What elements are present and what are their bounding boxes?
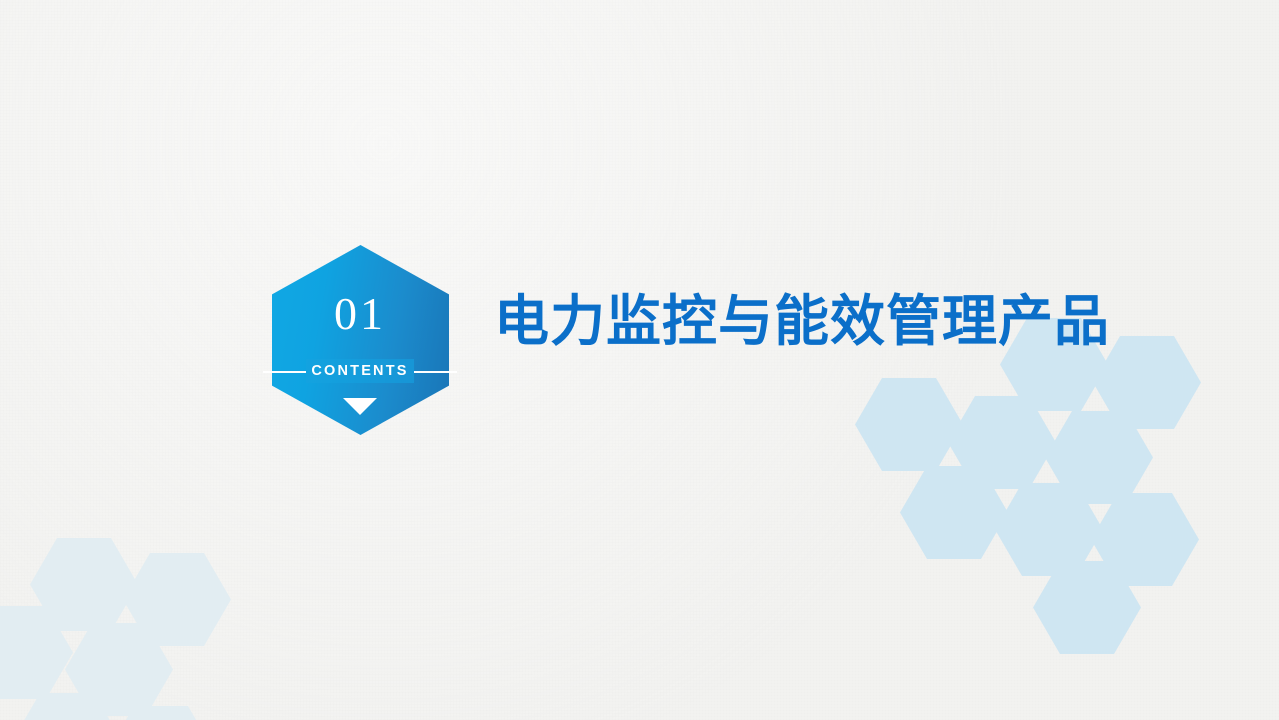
decorative-hexagon <box>0 603 73 702</box>
decorative-hexagon <box>13 690 121 720</box>
paper-texture-overlay <box>0 0 1279 720</box>
decorative-hexagon <box>900 463 1008 562</box>
decorative-hexagon <box>30 535 138 634</box>
honeycomb-decoration-right <box>855 315 1215 655</box>
decorative-hexagon <box>855 375 963 474</box>
honeycomb-decoration-left <box>0 515 215 720</box>
badge-contents-label: CONTENTS <box>306 359 413 383</box>
decorative-hexagon <box>1033 558 1141 657</box>
decorative-hexagon <box>107 703 215 720</box>
presentation-slide: 01 CONTENTS 电力监控与能效管理产品 <box>0 0 1279 720</box>
page-title: 电力监控与能效管理产品 <box>494 288 1110 354</box>
badge-contents-label-wrap: CONTENTS <box>265 359 455 383</box>
decorative-hexagon <box>1091 490 1199 589</box>
decorative-hexagon <box>65 620 173 719</box>
section-number: 01 <box>265 291 455 337</box>
decorative-hexagon <box>948 393 1056 492</box>
decorative-hexagon <box>1045 408 1153 507</box>
decorative-hexagon <box>123 550 231 649</box>
decorative-hexagon <box>995 480 1103 579</box>
down-triangle-icon <box>343 398 377 415</box>
section-badge: 01 CONTENTS <box>265 245 455 440</box>
